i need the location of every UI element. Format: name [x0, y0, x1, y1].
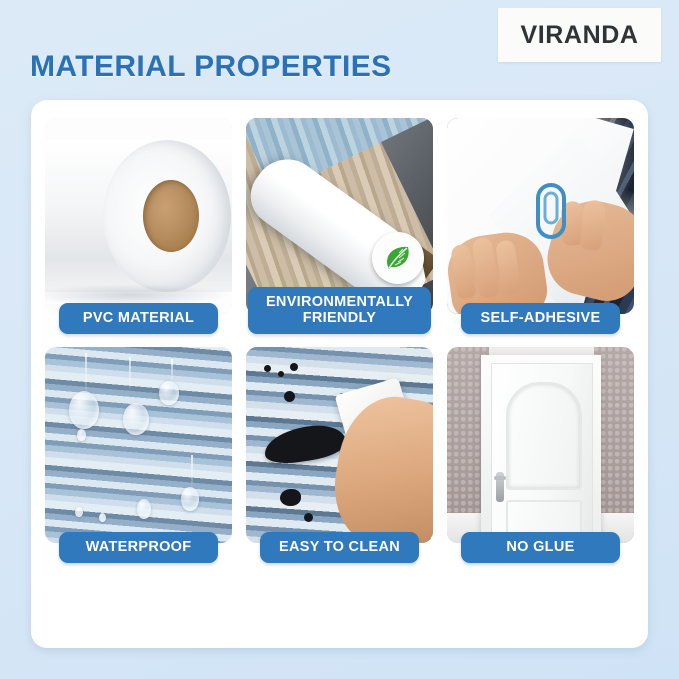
- features-grid: PVC MATERIAL: [45, 118, 634, 563]
- feature-card-waterproof[interactable]: WATERPROOF: [45, 347, 232, 543]
- brand-logo: VIRANDA: [498, 8, 661, 62]
- feature-label-easy-to-clean: EASY TO CLEAN: [260, 532, 419, 563]
- features-panel: PVC MATERIAL: [31, 100, 648, 648]
- feature-label-pvc-material: PVC MATERIAL: [59, 303, 218, 334]
- feature-label-no-glue: NO GLUE: [461, 532, 620, 563]
- feature-card-easy-to-clean[interactable]: EASY TO CLEAN: [246, 347, 433, 543]
- feature-image-environmentally-friendly: [246, 118, 433, 314]
- roll-core: [143, 180, 199, 252]
- door-handle: [496, 472, 504, 502]
- feature-card-self-adhesive[interactable]: SELF-ADHESIVE: [447, 118, 634, 314]
- feature-label-self-adhesive: SELF-ADHESIVE: [461, 303, 620, 334]
- feature-label-line1: ENVIRONMENTALLY: [266, 294, 413, 310]
- feature-card-no-glue[interactable]: NO GLUE: [447, 347, 634, 543]
- poster-root: VIRANDA MATERIAL PROPERTIES: [0, 0, 679, 679]
- feature-card-environmentally-friendly[interactable]: ENVIRONMENTALLY FRIENDLY: [246, 118, 433, 314]
- wipe-stain-illustration: [246, 347, 433, 543]
- feature-image-easy-to-clean: [246, 347, 433, 543]
- leaf-icon: [381, 241, 415, 275]
- page-title: MATERIAL PROPERTIES: [30, 50, 392, 84]
- feature-image-pvc-material: [45, 118, 232, 314]
- feature-label-line2: FRIENDLY: [303, 310, 377, 326]
- peel-film-illustration: [447, 118, 634, 314]
- feature-image-no-glue: [447, 347, 634, 543]
- feature-label-waterproof: WATERPROOF: [59, 532, 218, 563]
- eco-film-illustration: [246, 118, 433, 314]
- feature-image-self-adhesive: [447, 118, 634, 314]
- eco-leaf-badge: [372, 232, 424, 284]
- stain-large: [262, 421, 348, 466]
- door-leaf: [491, 363, 593, 543]
- feature-card-pvc-material[interactable]: PVC MATERIAL: [45, 118, 232, 314]
- paperclip-icon: [531, 180, 571, 242]
- water-droplets-illustration: [45, 347, 232, 543]
- pvc-roll-illustration: [45, 118, 232, 314]
- brand-logo-text: VIRANDA: [520, 21, 638, 50]
- door-illustration: [447, 347, 634, 543]
- feature-label-environmentally-friendly: ENVIRONMENTALLY FRIENDLY: [248, 287, 431, 334]
- door-upper-panel: [506, 382, 582, 490]
- paperclip-logo: [531, 180, 571, 247]
- feature-image-waterproof: [45, 347, 232, 543]
